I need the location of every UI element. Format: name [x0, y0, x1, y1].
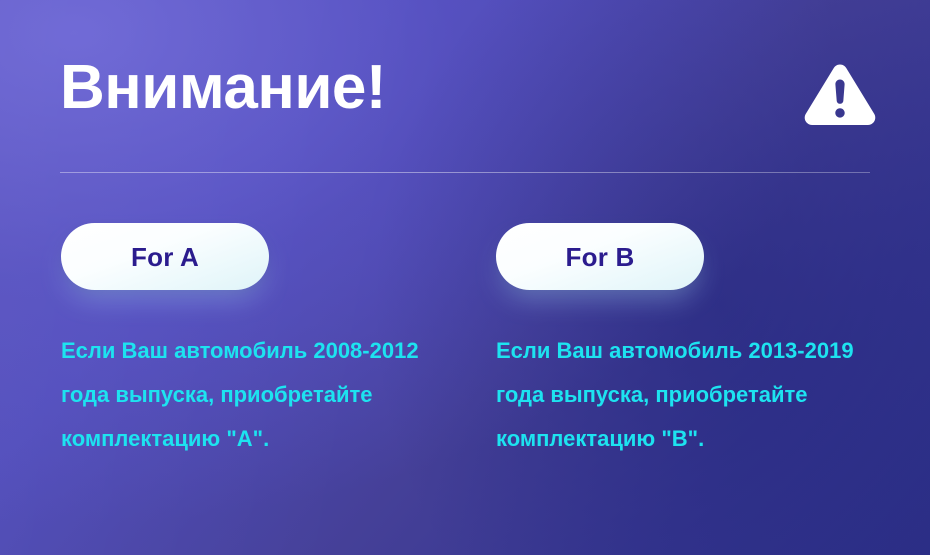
description-a-line-2: года выпуска, приобретайте [61, 373, 461, 417]
header-divider [60, 172, 870, 173]
description-b-line-3: комплектацию "B". [496, 417, 896, 461]
page-title: Внимание! [60, 57, 386, 119]
option-column-b: For B Если Ваш автомобиль 2013-2019 года… [496, 223, 916, 461]
description-a: Если Ваш автомобиль 2008-2012 года выпус… [61, 329, 461, 461]
badge-for-a[interactable]: For A [61, 223, 269, 290]
description-a-line-1: Если Ваш автомобиль 2008-2012 [61, 329, 461, 373]
description-b-line-1: Если Ваш автомобиль 2013-2019 [496, 329, 896, 373]
description-b: Если Ваш автомобиль 2013-2019 года выпус… [496, 329, 896, 461]
badge-for-b[interactable]: For B [496, 223, 704, 290]
badge-for-b-label: For B [566, 244, 635, 270]
description-b-line-2: года выпуска, приобретайте [496, 373, 896, 417]
description-a-line-3: комплектацию "A". [61, 417, 461, 461]
option-column-a: For A Если Ваш автомобиль 2008-2012 года… [61, 223, 481, 461]
badge-for-a-label: For A [131, 244, 199, 270]
attention-banner: Внимание! For A Если Ваш автомобиль 2008… [0, 0, 930, 555]
warning-triangle-icon [802, 62, 878, 126]
